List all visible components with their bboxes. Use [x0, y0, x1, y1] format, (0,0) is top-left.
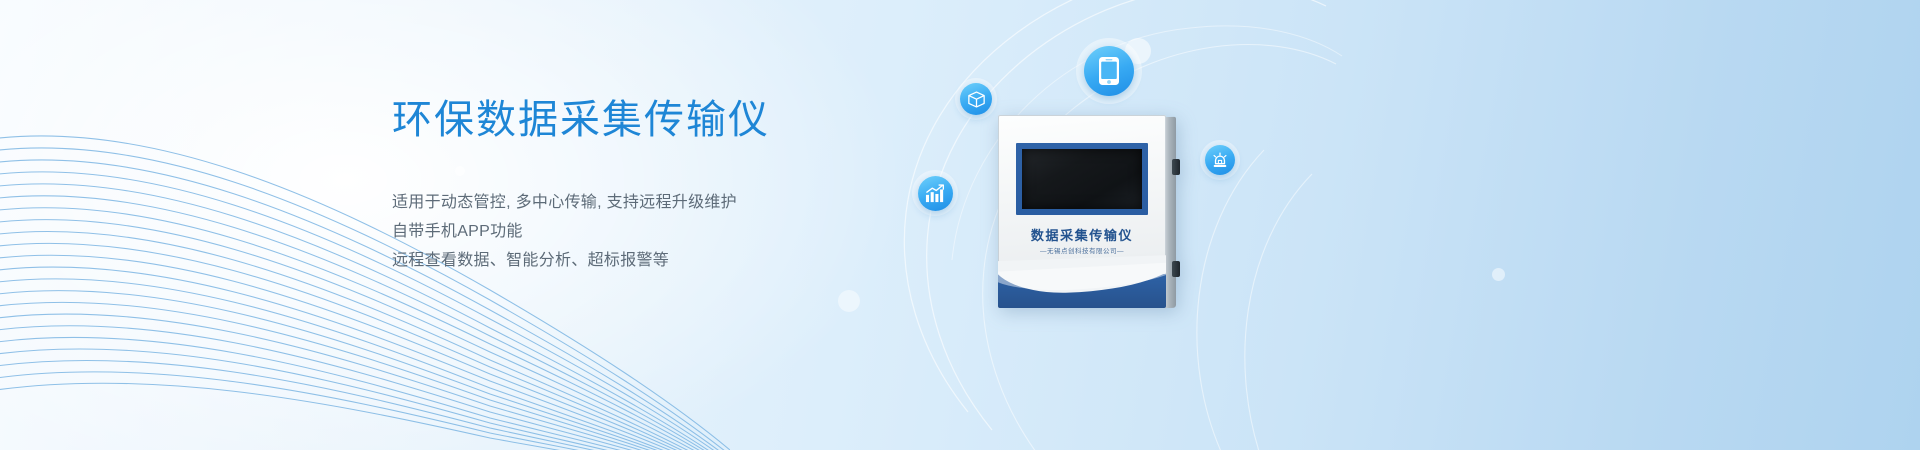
icon-disc: [1084, 46, 1134, 96]
device-label: 数据采集传输仪: [998, 225, 1166, 244]
page-title: 环保数据采集传输仪: [392, 96, 912, 144]
product-illustration: 数据采集传输仪 —无锡点创科技有限公司—: [860, 0, 1920, 450]
device-photo: 数据采集传输仪 —无锡点创科技有限公司—: [998, 115, 1175, 310]
device-front-panel: 数据采集传输仪 —无锡点创科技有限公司—: [998, 115, 1166, 308]
device-hinge: [1172, 159, 1180, 175]
alarm-icon: [1200, 140, 1240, 180]
feature-item: 远程查看数据、智能分析、超标报警等: [392, 246, 912, 275]
icon-disc: [1205, 145, 1235, 175]
banner-copy: 环保数据采集传输仪 适用于动态管控, 多中心传输, 支持远程升级维护 自带手机A…: [392, 96, 912, 275]
device-base-stripe: [998, 274, 1166, 308]
bubble-decoration: [838, 290, 860, 312]
phone-icon: [1076, 38, 1142, 104]
feature-list: 适用于动态管控, 多中心传输, 支持远程升级维护 自带手机APP功能 远程查看数…: [392, 188, 912, 275]
icon-disc: [960, 83, 992, 115]
device-screen-bezel: [1016, 143, 1148, 215]
device-screen: [1022, 149, 1142, 209]
device-hinge: [1172, 261, 1180, 277]
icon-disc: [918, 176, 953, 211]
device-company-label: —无锡点创科技有限公司—: [998, 245, 1166, 255]
box-icon: [955, 78, 997, 120]
chart-icon: [912, 170, 958, 216]
product-banner: 环保数据采集传输仪 适用于动态管控, 多中心传输, 支持远程升级维护 自带手机A…: [0, 0, 1920, 450]
feature-item: 适用于动态管控, 多中心传输, 支持远程升级维护: [392, 188, 912, 217]
feature-item: 自带手机APP功能: [392, 217, 912, 246]
